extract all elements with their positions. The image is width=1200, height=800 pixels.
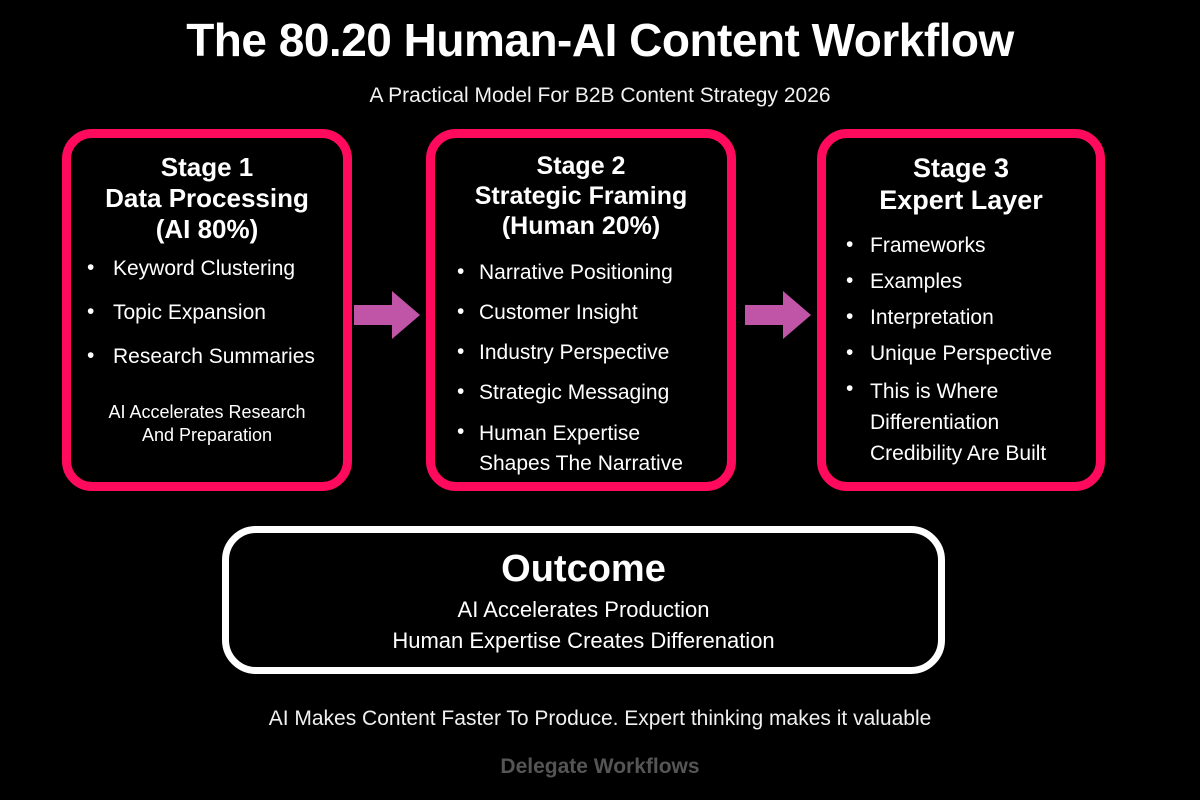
page-subtitle: A Practical Model For B2B Content Strate… [0, 84, 1200, 108]
stage-2-title: Stage 2 Strategic Framing (Human 20%) [445, 152, 717, 241]
stage-1-title: Stage 1 Data Processing (AI 80%) [81, 152, 333, 245]
list-item: Strategic Messaging [445, 379, 717, 407]
list-item: Frameworks [836, 232, 1086, 260]
stage-1-list: Keyword Clustering Topic Expansion Resea… [81, 255, 333, 387]
outcome-line-1: AI Accelerates Production [458, 595, 710, 626]
list-item: Industry Perspective [445, 339, 717, 367]
outcome-title: Outcome [501, 549, 666, 591]
stage-card-3: Stage 3 Expert Layer Frameworks Examples… [817, 129, 1105, 491]
stage-3-title: Stage 3 Expert Layer [836, 152, 1086, 216]
infographic-canvas: The 80.20 Human-AI Content Workflow A Pr… [0, 0, 1200, 800]
outcome-line-2: Human Expertise Creates Differenation [392, 626, 774, 657]
list-item: This is Where Differentiation Credibilit… [836, 376, 1086, 469]
stage-1-note: AI Accelerates Research And Preparation [81, 401, 333, 448]
footer-note: AI Makes Content Faster To Produce. Expe… [0, 707, 1200, 731]
stage-2-list: Narrative Positioning Customer Insight I… [445, 259, 717, 490]
list-item: Unique Perspective [836, 340, 1086, 368]
list-item: Research Summaries [81, 343, 333, 371]
page-title: The 80.20 Human-AI Content Workflow [0, 14, 1200, 67]
watermark-label: Delegate Workflows [0, 755, 1200, 779]
list-item: Customer Insight [445, 299, 717, 327]
list-item: Examples [836, 268, 1086, 296]
stage-card-2: Stage 2 Strategic Framing (Human 20%) Na… [426, 129, 736, 491]
stage-3-list: Frameworks Examples Interpretation Uniqu… [836, 232, 1086, 477]
list-item: Interpretation [836, 304, 1086, 332]
list-item: Narrative Positioning [445, 259, 717, 287]
list-item: Keyword Clustering [81, 255, 333, 283]
arrow-right-icon [745, 289, 811, 341]
outcome-card: Outcome AI Accelerates Production Human … [222, 526, 945, 674]
stage-card-1: Stage 1 Data Processing (AI 80%) Keyword… [62, 129, 352, 491]
list-item: Topic Expansion [81, 299, 333, 327]
list-item: Human Expertise Shapes The Narrative [445, 419, 717, 479]
arrow-right-icon [354, 289, 420, 341]
